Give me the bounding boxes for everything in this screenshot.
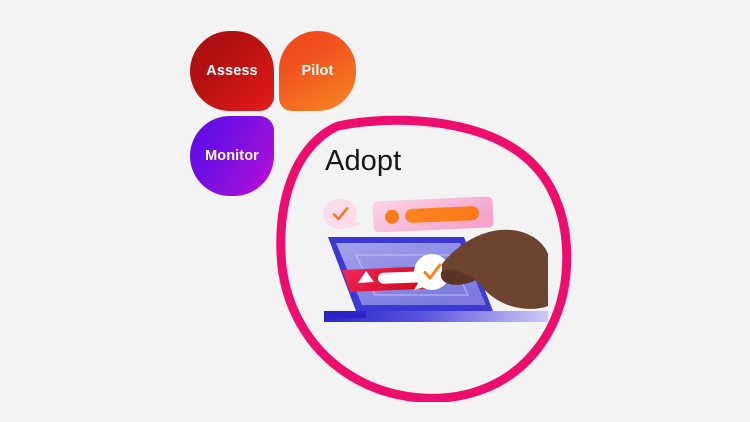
stage-blob-assess[interactable]: Assess [190,31,274,111]
stage-label-pilot: Pilot [302,64,334,79]
pink-check-bubble [323,199,362,229]
stage-blob-monitor[interactable]: Monitor [190,116,274,196]
stage-blob-pilot[interactable]: Pilot [279,31,356,111]
adopt-title: Adopt [325,147,401,176]
illustration-canvas: Assess Pilot Monitor Adopt [0,0,750,422]
stage-label-monitor: Monitor [205,149,259,164]
laptop-trackpad-edge [324,311,366,318]
notification-card [372,196,493,232]
laptop-illustration [316,192,548,338]
stage-label-assess: Assess [206,64,257,79]
